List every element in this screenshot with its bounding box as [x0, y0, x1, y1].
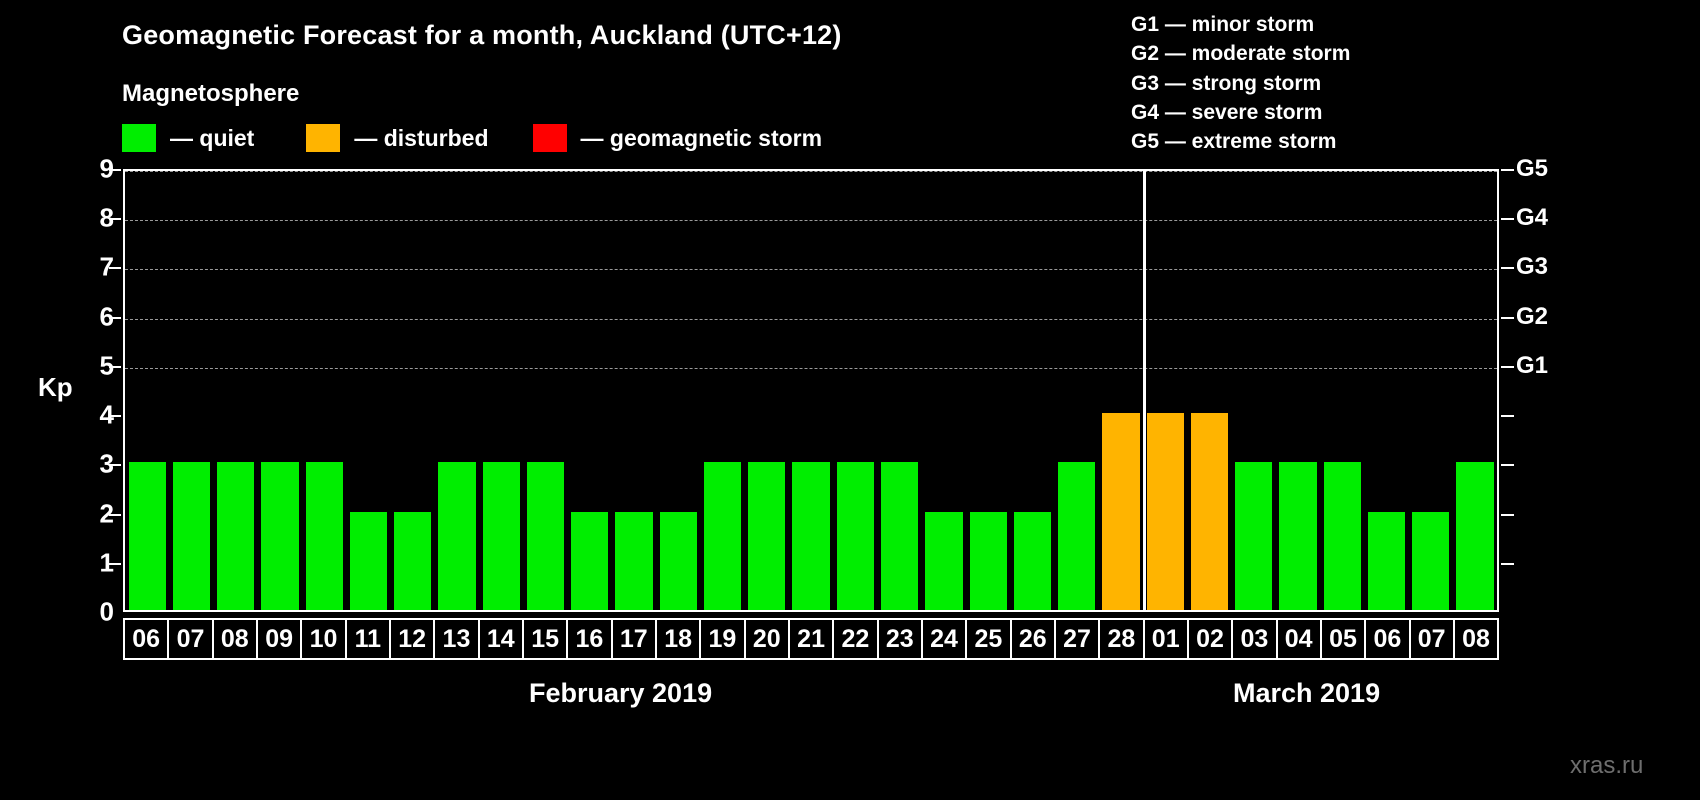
bar-cell[interactable]	[1409, 171, 1453, 610]
date-cell[interactable]: 18	[657, 620, 701, 658]
g-axis-tick	[1501, 415, 1514, 417]
bar[interactable]	[571, 512, 608, 610]
watermark: xras.ru	[1570, 752, 1643, 780]
bar-cell[interactable]	[435, 171, 479, 610]
y-axis-tick	[109, 563, 121, 565]
bar-cell[interactable]	[1320, 171, 1364, 610]
date-cell[interactable]: 28	[1100, 620, 1144, 658]
date-cell[interactable]: 14	[480, 620, 524, 658]
date-cell[interactable]: 22	[834, 620, 878, 658]
date-cell[interactable]: 19	[701, 620, 745, 658]
date-cell[interactable]: 13	[435, 620, 479, 658]
bar-cell[interactable]	[833, 171, 877, 610]
bar[interactable]	[350, 512, 387, 610]
legend-swatch-storm	[533, 124, 567, 152]
bar-cell[interactable]	[214, 171, 258, 610]
date-cell[interactable]: 15	[524, 620, 568, 658]
date-cell[interactable]: 11	[347, 620, 391, 658]
date-cell[interactable]: 16	[568, 620, 612, 658]
y-axis-tick	[109, 366, 121, 368]
bar[interactable]	[748, 462, 785, 610]
legend-item-storm: — geomagnetic storm	[533, 124, 823, 152]
g-axis-tick	[1501, 366, 1514, 368]
bar-cell[interactable]	[1453, 171, 1497, 610]
legend-swatch-disturbed	[306, 124, 340, 152]
g-axis-tick	[1501, 218, 1514, 220]
magnetosphere-label: Magnetosphere	[122, 80, 299, 108]
date-cell[interactable]: 23	[879, 620, 923, 658]
bar-cell[interactable]	[479, 171, 523, 610]
bar-cell[interactable]	[169, 171, 213, 610]
page-title: Geomagnetic Forecast for a month, Auckla…	[122, 20, 842, 51]
g-axis-label-g1: G1	[1516, 352, 1548, 380]
bar[interactable]	[173, 462, 210, 610]
bar[interactable]	[217, 462, 254, 610]
bar[interactable]	[1412, 512, 1449, 610]
bar-cell[interactable]	[789, 171, 833, 610]
y-axis-tick-label: 3	[74, 449, 114, 480]
bar-cell[interactable]	[1364, 171, 1408, 610]
g-axis-label-g4: G4	[1516, 204, 1548, 232]
date-axis: 0607080910111213141516171819202122232425…	[123, 618, 1499, 660]
date-cell[interactable]: 02	[1189, 620, 1233, 658]
date-cell[interactable]: 06	[125, 620, 169, 658]
bar-cell[interactable]	[612, 171, 656, 610]
bar-cell[interactable]	[922, 171, 966, 610]
month-label-march: March 2019	[1233, 678, 1380, 709]
y-axis-tick-label: 5	[74, 350, 114, 381]
bar[interactable]	[438, 462, 475, 610]
date-cell[interactable]: 21	[790, 620, 834, 658]
y-axis-tick-label: 0	[74, 597, 114, 628]
date-cell[interactable]: 12	[391, 620, 435, 658]
chart-plot-area	[123, 169, 1499, 612]
date-cell[interactable]: 08	[1455, 620, 1497, 658]
month-label-february: February 2019	[529, 678, 712, 709]
y-axis-tick-label: 2	[74, 498, 114, 529]
g-axis-tick	[1501, 563, 1514, 565]
bar-cell[interactable]	[258, 171, 302, 610]
bar[interactable]	[970, 512, 1007, 610]
date-cell[interactable]: 26	[1012, 620, 1056, 658]
g-axis-tick	[1501, 317, 1514, 319]
y-axis-tick-label: 9	[74, 154, 114, 185]
bar[interactable]	[1279, 462, 1316, 610]
bar[interactable]	[1147, 413, 1184, 610]
bar-cell[interactable]	[1099, 171, 1143, 610]
g-axis-tick	[1501, 169, 1514, 171]
bar-cell[interactable]	[1055, 171, 1099, 610]
bar-cell[interactable]	[1010, 171, 1054, 610]
g-axis-tick	[1501, 514, 1514, 516]
bar[interactable]	[792, 462, 829, 610]
g-axis-label-g5: G5	[1516, 155, 1548, 183]
g-axis-tick	[1501, 267, 1514, 269]
date-cell[interactable]: 05	[1322, 620, 1366, 658]
g-axis-tick	[1501, 464, 1514, 466]
date-cell[interactable]: 06	[1366, 620, 1410, 658]
date-cell[interactable]: 01	[1145, 620, 1189, 658]
date-cell[interactable]: 17	[613, 620, 657, 658]
y-axis-tick-label: 8	[74, 203, 114, 234]
legend-swatch-quiet	[122, 124, 156, 152]
g-scale-row-g3: G3 — strong storm	[1131, 69, 1350, 98]
date-cell[interactable]: 08	[214, 620, 258, 658]
bar-cell[interactable]	[346, 171, 390, 610]
date-cell[interactable]: 20	[746, 620, 790, 658]
bar[interactable]	[837, 462, 874, 610]
date-cell[interactable]: 25	[967, 620, 1011, 658]
bar[interactable]	[483, 462, 520, 610]
bar[interactable]	[527, 462, 564, 610]
date-cell[interactable]: 09	[258, 620, 302, 658]
date-cell[interactable]: 24	[923, 620, 967, 658]
bar-cell[interactable]	[700, 171, 744, 610]
bar[interactable]	[1191, 413, 1228, 610]
bar-cell[interactable]	[966, 171, 1010, 610]
bar[interactable]	[1102, 413, 1139, 610]
bar-cell[interactable]	[1232, 171, 1276, 610]
date-cell[interactable]: 04	[1278, 620, 1322, 658]
date-cell[interactable]: 07	[1411, 620, 1455, 658]
bar[interactable]	[615, 512, 652, 610]
date-cell[interactable]: 27	[1056, 620, 1100, 658]
y-axis-tick-label: 6	[74, 301, 114, 332]
legend-item-quiet: — quiet	[122, 124, 254, 152]
bar-cell[interactable]	[302, 171, 346, 610]
bar-cell[interactable]	[1276, 171, 1320, 610]
bar[interactable]	[306, 462, 343, 610]
g-scale-row-g1: G1 — minor storm	[1131, 10, 1350, 39]
month-divider	[1143, 171, 1146, 610]
legend-item-disturbed: — disturbed	[306, 124, 488, 152]
y-axis-tick	[109, 267, 121, 269]
bar[interactable]	[1368, 512, 1405, 610]
y-axis-tick	[109, 317, 121, 319]
legend-label-disturbed: — disturbed	[354, 125, 488, 152]
bar-cell[interactable]	[125, 171, 169, 610]
g-axis-label-g3: G3	[1516, 253, 1548, 281]
y-axis-tick-label: 1	[74, 547, 114, 578]
y-axis-title: Kp	[38, 372, 73, 403]
bar-series	[125, 171, 1497, 610]
date-cell[interactable]: 10	[302, 620, 346, 658]
bar[interactable]	[881, 462, 918, 610]
g-axis-label-g2: G2	[1516, 303, 1548, 331]
y-axis-tick	[109, 514, 121, 516]
bar-cell[interactable]	[568, 171, 612, 610]
bar[interactable]	[129, 462, 166, 610]
y-axis-tick	[109, 169, 121, 171]
date-cell[interactable]: 03	[1233, 620, 1277, 658]
bar-cell[interactable]	[656, 171, 700, 610]
g-scale-legend: G1 — minor storm G2 — moderate storm G3 …	[1131, 10, 1350, 156]
date-cell[interactable]: 07	[169, 620, 213, 658]
bar[interactable]	[660, 512, 697, 610]
y-axis-tick	[109, 415, 121, 417]
legend-label-quiet: — quiet	[170, 125, 254, 152]
bar-cell[interactable]	[391, 171, 435, 610]
bar[interactable]	[1014, 512, 1051, 610]
y-axis-tick-label: 7	[74, 252, 114, 283]
bar-cell[interactable]	[1143, 171, 1187, 610]
bar[interactable]	[1456, 462, 1493, 610]
bar[interactable]	[261, 462, 298, 610]
bar-cell[interactable]	[745, 171, 789, 610]
g-scale-row-g2: G2 — moderate storm	[1131, 39, 1350, 68]
y-axis-tick	[109, 218, 121, 220]
bar[interactable]	[1058, 462, 1095, 610]
bar[interactable]	[394, 512, 431, 610]
bar[interactable]	[1235, 462, 1272, 610]
bar[interactable]	[704, 462, 741, 610]
g-scale-row-g4: G4 — severe storm	[1131, 98, 1350, 127]
bar-cell[interactable]	[523, 171, 567, 610]
legend-label-storm: — geomagnetic storm	[581, 125, 823, 152]
bar-cell[interactable]	[878, 171, 922, 610]
bar[interactable]	[925, 512, 962, 610]
legend: — quiet — disturbed — geomagnetic storm	[122, 124, 822, 152]
bar[interactable]	[1324, 462, 1361, 610]
y-axis-tick-label: 4	[74, 400, 114, 431]
g-scale-row-g5: G5 — extreme storm	[1131, 127, 1350, 156]
y-axis-tick	[109, 464, 121, 466]
bar-cell[interactable]	[1187, 171, 1231, 610]
